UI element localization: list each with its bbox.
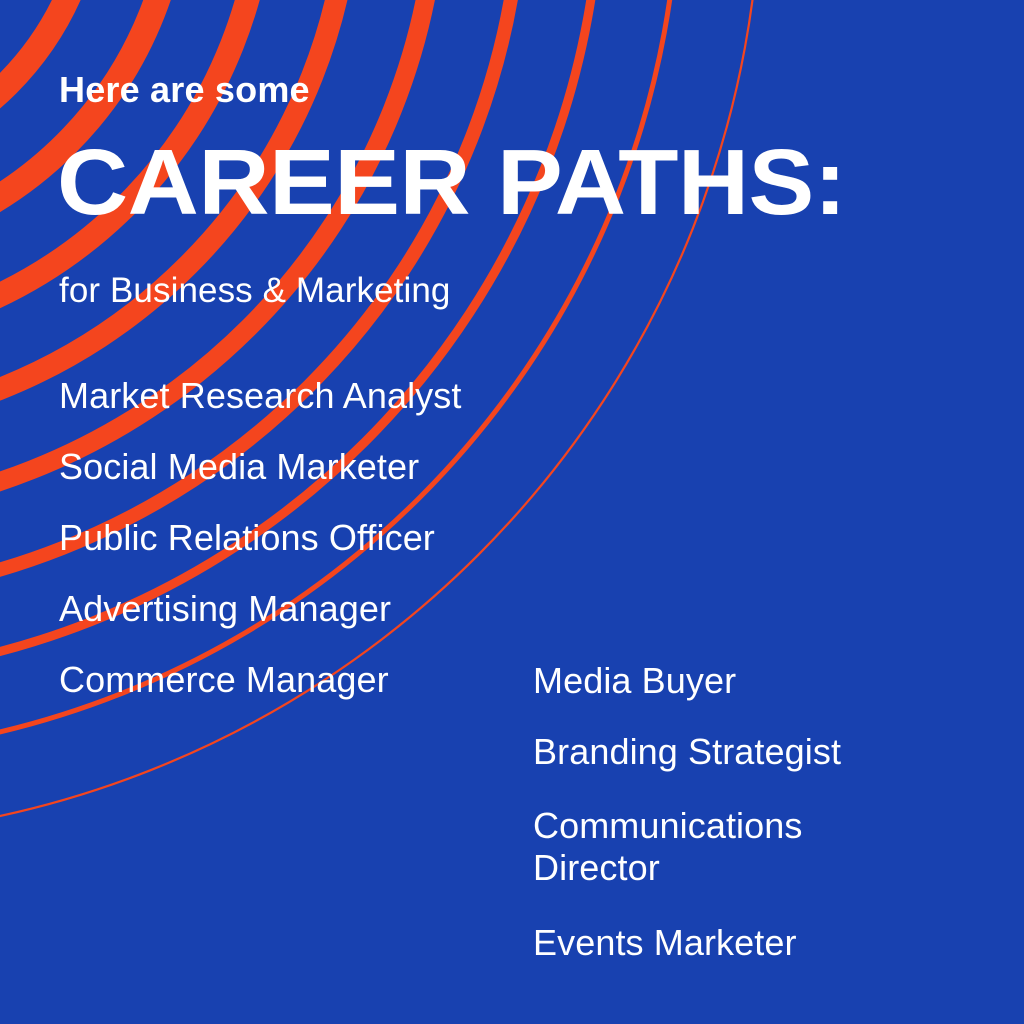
eyebrow-text: Here are some xyxy=(59,70,310,110)
list-item: Commerce Manager xyxy=(59,662,461,698)
list-item: Events Marketer xyxy=(533,925,863,961)
list-item: Market Research Analyst xyxy=(59,378,461,414)
page-subtitle: for Business & Marketing xyxy=(59,272,450,311)
list-item: Advertising Manager xyxy=(59,591,461,627)
career-list-left: Market Research Analyst Social Media Mar… xyxy=(59,378,461,698)
career-paths-poster: Here are some CAREER PATHS: for Business… xyxy=(0,0,1024,1024)
career-list-right: Media Buyer Branding Strategist Communic… xyxy=(533,663,863,961)
page-title: CAREER PATHS: xyxy=(57,136,846,229)
list-item: Branding Strategist xyxy=(533,734,863,770)
list-item: Communications Director xyxy=(533,805,863,890)
list-item: Media Buyer xyxy=(533,663,863,699)
list-item: Public Relations Officer xyxy=(59,520,461,556)
list-item: Social Media Marketer xyxy=(59,449,461,485)
